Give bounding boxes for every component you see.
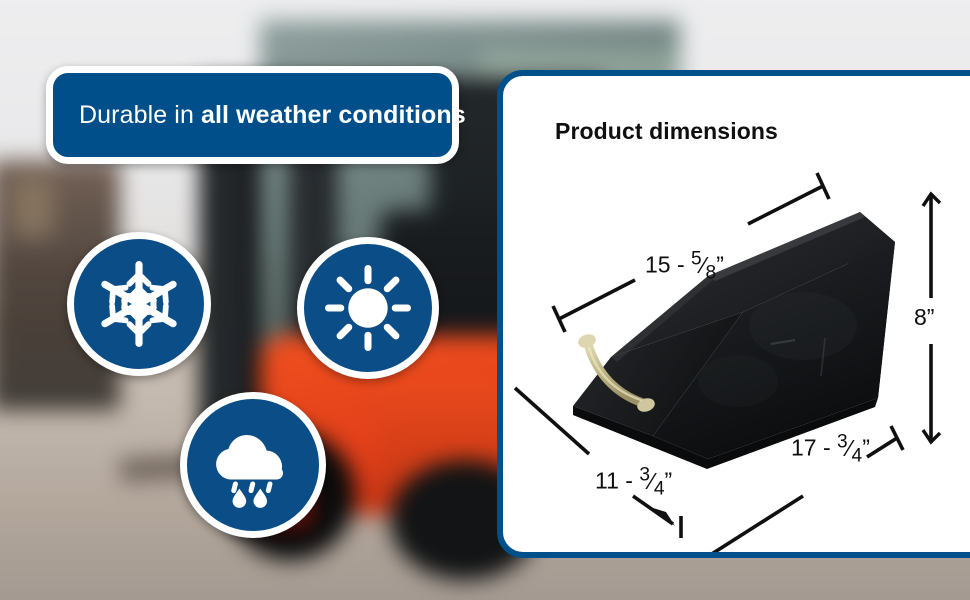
dimension-unit: ” [664,468,672,494]
rain-cloud-icon [203,415,303,515]
dimension-label-length-top: 15 - 5⁄8” [645,248,724,284]
dimension-unit: ” [862,435,870,461]
dimension-fraction: 5⁄8 [691,252,716,278]
weather-icon-sun [297,237,439,379]
dimension-label-width-front: 11 - 3⁄4” [595,464,672,500]
dimension-value: 11 - [595,468,639,494]
weather-icon-snowflake [67,232,211,376]
product-dimensions-panel: Product dimensions [497,70,970,558]
weather-icon-rain-cloud [180,392,326,538]
dimension-label-length-base: 17 - 3⁄4” [791,431,870,467]
weather-banner: Durable in all weather conditions [46,66,459,164]
dimension-value: 17 - [791,435,837,461]
dimension-unit: ” [927,304,935,330]
marketing-banner-stage: Durable in all weather conditions [0,0,970,600]
dimension-value: 8 [914,304,927,330]
background-shelf-item [12,178,54,238]
snowflake-icon [91,256,187,352]
dimension-label-height: 8” [914,304,934,331]
product-illustration: 15 - 5⁄8” 8” 11 - 3⁄4” 17 - 3⁄4” [503,76,970,558]
weather-banner-text-bold: all weather conditions [201,101,466,129]
dimension-value: 15 - [645,252,691,278]
dimension-fraction: 3⁄4 [837,435,862,461]
dimension-unit: ” [716,252,724,278]
weather-banner-text: Durable in all weather conditions [53,101,466,130]
weather-banner-text-regular: Durable in [79,101,201,129]
dimension-fraction: 3⁄4 [639,468,664,494]
sun-icon [321,261,415,355]
